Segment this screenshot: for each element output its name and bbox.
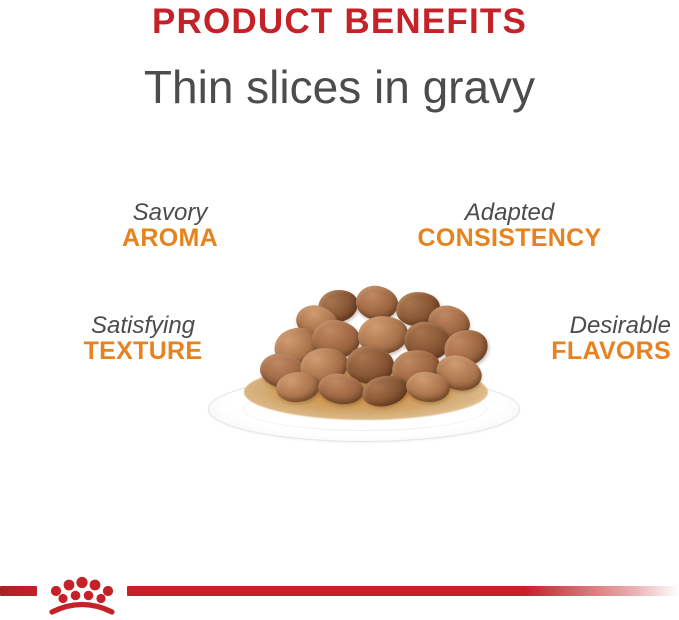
product-benefits-panel: PRODUCT BENEFITS Thin slices in gravy Sa… xyxy=(0,0,679,620)
benefit-aroma: Savory AROMA xyxy=(0,200,340,252)
royal-canin-crown-logo xyxy=(42,570,122,615)
brand-footer xyxy=(0,582,679,620)
benefit-aroma-noun: AROMA xyxy=(0,225,340,252)
benefit-consistency-noun: CONSISTENCY xyxy=(340,225,679,252)
meat-pile xyxy=(200,272,530,452)
page-subtitle: Thin slices in gravy xyxy=(0,60,679,114)
page-title: PRODUCT BENEFITS xyxy=(0,2,679,42)
benefit-consistency-adjective: Adapted xyxy=(340,200,679,225)
brand-rule-left xyxy=(0,586,37,596)
benefit-aroma-adjective: Savory xyxy=(0,200,340,225)
brand-rule-right xyxy=(127,586,679,596)
benefit-consistency: Adapted CONSISTENCY xyxy=(340,200,679,252)
product-photo xyxy=(200,272,530,452)
